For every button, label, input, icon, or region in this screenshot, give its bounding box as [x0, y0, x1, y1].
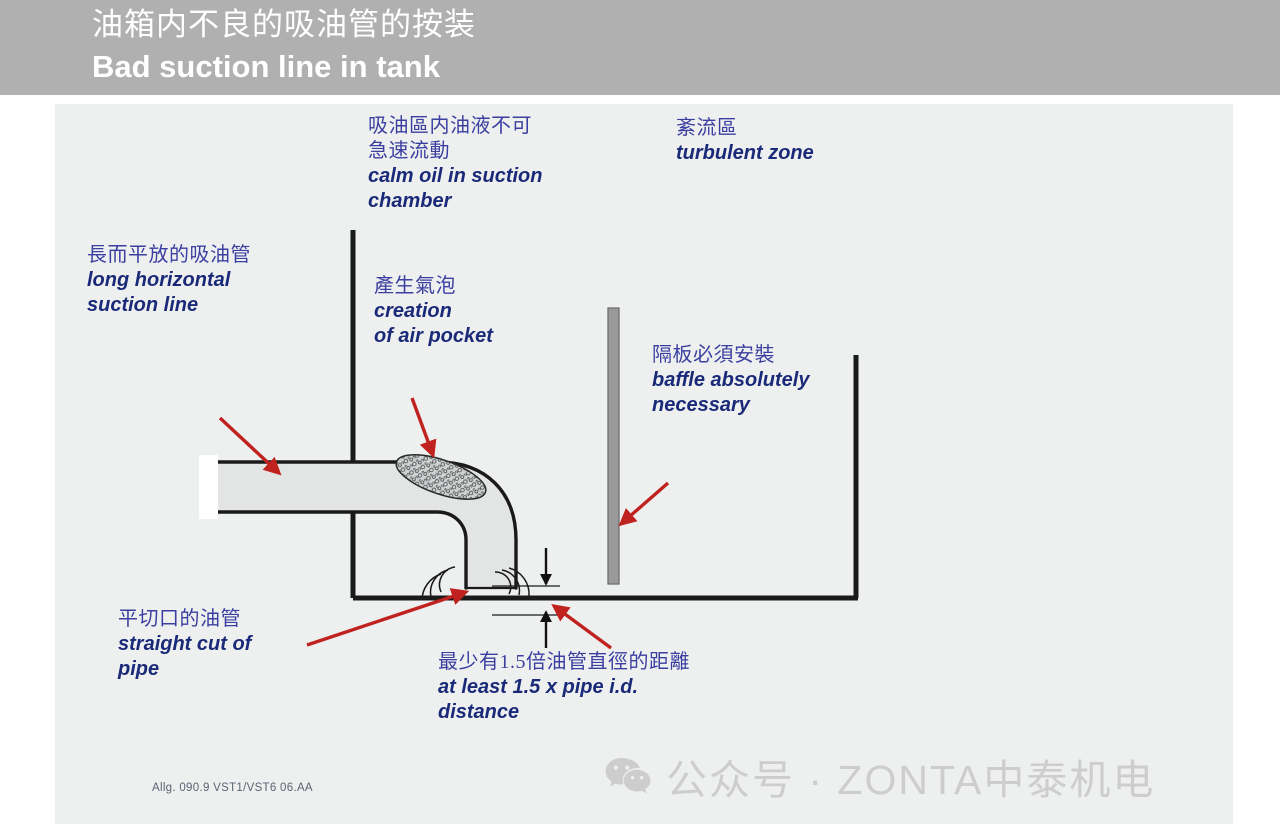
- annotation-minimum-distance: 最少有1.5倍油管直徑的距離 at least 1.5 x pipe i.d. …: [438, 650, 690, 725]
- annotation-en-line1: long horizontal: [87, 268, 251, 293]
- annotation-en-line2: suction line: [87, 293, 251, 318]
- page-title-chinese: 油箱内不良的吸油管的按装: [92, 6, 476, 44]
- annotation-en-line1: creation: [374, 299, 493, 324]
- annotation-en-line2: of air pocket: [374, 324, 493, 349]
- annotation-cn-text: 紊流區: [676, 116, 814, 141]
- annotation-baffle-necessary: 隔板必須安裝 baffle absolutely necessary: [652, 343, 809, 418]
- header-band: 油箱内不良的吸油管的按装 Bad suction line in tank: [0, 0, 1280, 95]
- annotation-straight-cut-of-pipe: 平切口的油管 straight cut of pipe: [118, 607, 251, 682]
- annotation-turbulent-zone: 紊流區 turbulent zone: [676, 116, 814, 166]
- annotation-calm-oil-suction-chamber: 吸油區内油液不可 急速流動 calm oil in suction chambe…: [368, 114, 542, 214]
- annotation-en-line2: chamber: [368, 189, 542, 214]
- annotation-en-line2: distance: [438, 700, 690, 725]
- annotation-en-line1: straight cut of: [118, 632, 251, 657]
- annotation-cn-line1: 吸油區内油液不可: [368, 114, 542, 139]
- annotation-cn-text: 平切口的油管: [118, 607, 251, 632]
- page-title-english: Bad suction line in tank: [92, 48, 440, 86]
- annotation-cn-text: 最少有1.5倍油管直徑的距離: [438, 650, 690, 675]
- annotation-cn-line2: 急速流動: [368, 139, 542, 164]
- annotation-cn-text: 隔板必須安裝: [652, 343, 809, 368]
- drawing-reference-code: Allg. 090.9 VST1/VST6 06.AA: [152, 782, 313, 794]
- annotation-en-line2: pipe: [118, 657, 251, 682]
- annotation-en-text: turbulent zone: [676, 141, 814, 166]
- annotation-creation-of-air-pocket: 產生氣泡 creation of air pocket: [374, 274, 493, 349]
- annotation-en-line1: baffle absolutely: [652, 368, 809, 393]
- annotation-cn-text: 產生氣泡: [374, 274, 493, 299]
- annotation-en-line1: at least 1.5 x pipe i.d.: [438, 675, 690, 700]
- annotation-cn-text: 長而平放的吸油管: [87, 243, 251, 268]
- annotation-long-horizontal-suction-line: 長而平放的吸油管 long horizontal suction line: [87, 243, 251, 318]
- annotation-en-line2: necessary: [652, 393, 809, 418]
- annotation-en-line1: calm oil in suction: [368, 164, 542, 189]
